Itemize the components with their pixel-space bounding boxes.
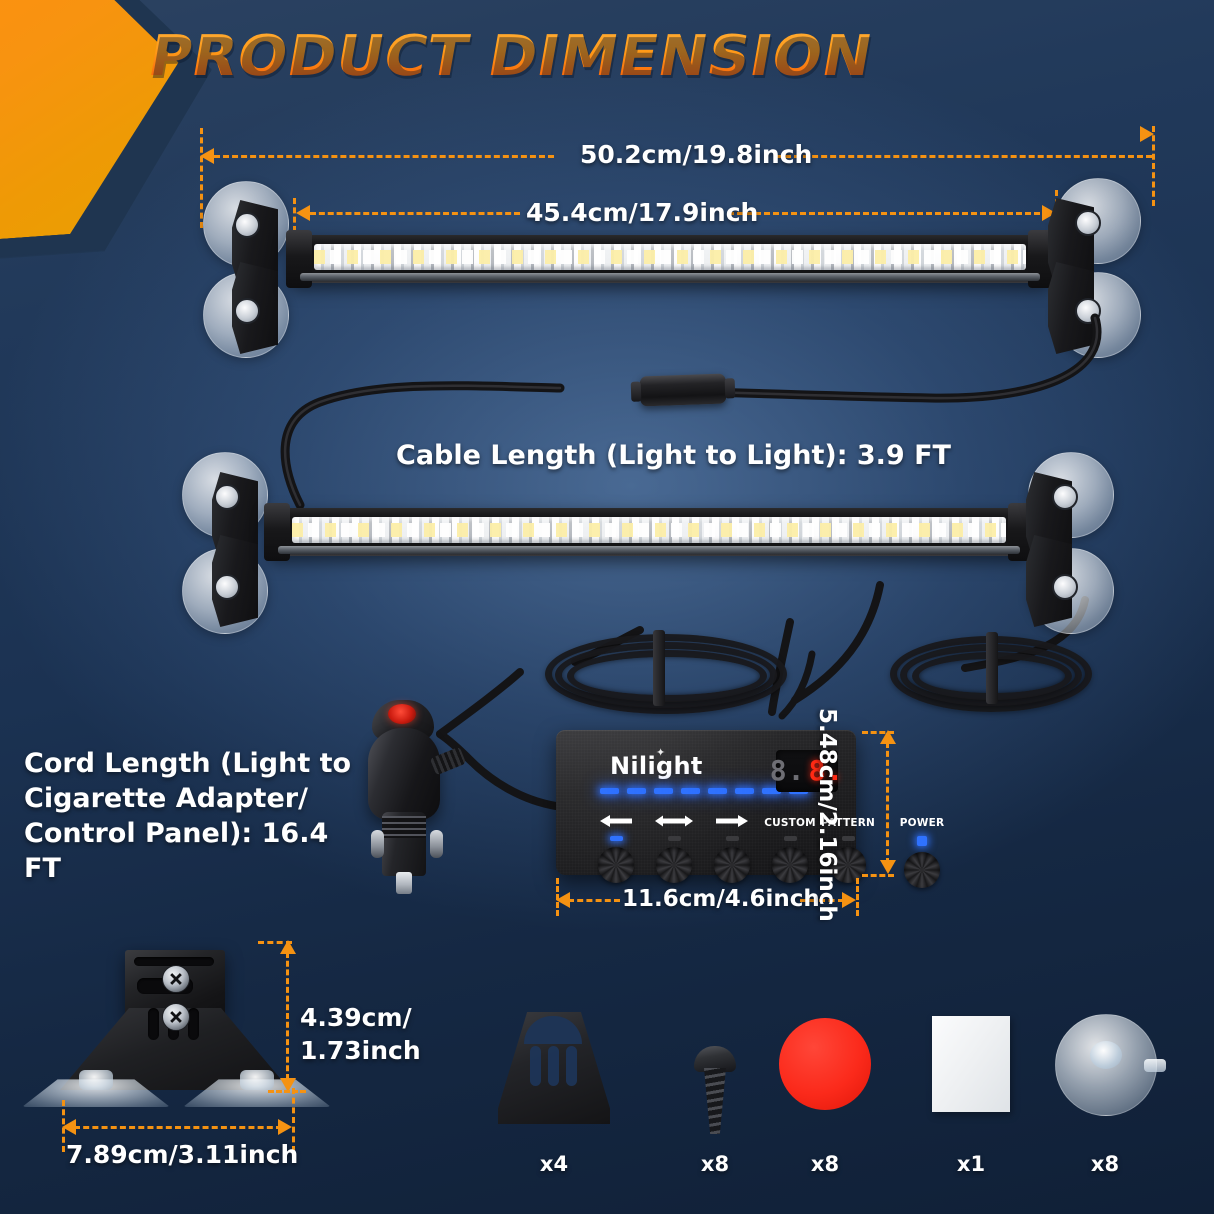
dim-panel-arrow-up: [880, 730, 896, 744]
led-segment: [735, 788, 754, 794]
adapter-center-pin: [396, 872, 412, 894]
button-row: CUSTOM PATTERN POWER: [588, 814, 950, 888]
accessory-screw-shaft: [704, 1068, 726, 1134]
dim-bracket-height-label: 4.39cm/ 1.73inch: [300, 1002, 421, 1067]
dim-panel-width-line-left: [568, 899, 620, 902]
dim-outer-arrow-right: [1140, 126, 1154, 142]
bracket-cutout-slot: [566, 1046, 577, 1086]
waterproof-cable-connector: [640, 374, 727, 407]
adapter-grip: [368, 728, 440, 820]
led-bar-heatsink: [278, 546, 1020, 554]
adapter-power-led-icon: [388, 704, 416, 724]
cable-tie: [986, 632, 998, 704]
product-dimension-infographic: PRODUCT DIMENSION 50.2cm/19.8inch 45.4cm…: [0, 0, 1214, 1214]
led-segment: [681, 788, 700, 794]
cable-length-label: Cable Length (Light to Light): 3.9 FT: [396, 440, 951, 471]
adapter-contact-clip-left: [371, 830, 384, 858]
dim-panel-right-tick: [856, 878, 859, 916]
button-knob[interactable]: [904, 852, 940, 888]
suction-cup-knob: [234, 298, 260, 324]
button-indicator-led: [726, 836, 739, 841]
cable-tie: [653, 630, 665, 706]
display-digit-1: 8.: [770, 757, 806, 785]
accessory-red-lens-cover: [779, 1018, 871, 1110]
dim-inner-arrow-left: [296, 205, 310, 221]
led-segment: [708, 788, 727, 794]
arrow-left-right-icon: [654, 814, 694, 832]
cord-length-line-1: Cord Length (Light to: [24, 746, 364, 781]
page-title: PRODUCT DIMENSION: [143, 24, 877, 89]
button-knob[interactable]: [598, 847, 634, 883]
cord-length-callout: Cord Length (Light to Cigarette Adapter/…: [24, 746, 364, 886]
dim-outer-left-tick: [200, 128, 203, 228]
dim-panel-width-label: 11.6cm/4.6inch: [622, 886, 820, 912]
bracket-screw: [162, 965, 190, 993]
suction-cup-knob: [214, 484, 240, 510]
panel-button-power[interactable]: POWER: [894, 814, 950, 888]
bracket-base-slot: [148, 1008, 159, 1040]
bracket-cutout-slot: [530, 1046, 541, 1086]
power-button-label: POWER: [900, 814, 944, 832]
bracket-suction-cup-knob: [79, 1070, 113, 1090]
dim-panel-arrow-right: [842, 892, 856, 908]
accessory-qty-suction-cup: x8: [1065, 1152, 1145, 1176]
led-bar-lens: [314, 244, 1026, 270]
dim-inner-line-left: [310, 212, 520, 215]
accessory-suction-cup: [1055, 1014, 1157, 1116]
led-bar-lens: [292, 517, 1006, 543]
power-indicator-led: [917, 836, 927, 846]
dim-bracket-width-line: [74, 1126, 282, 1129]
accessory-qty-white-lens: x1: [931, 1152, 1011, 1176]
suction-cup-knob: [1052, 484, 1078, 510]
panel-button-custom[interactable]: CUSTOM: [762, 814, 818, 888]
dim-outer-line-right: [776, 155, 1152, 158]
dim-outer-line-left: [214, 155, 554, 158]
dim-panel-height-line: [886, 742, 889, 864]
dim-inner-line-right: [728, 212, 1040, 215]
led-segment: [627, 788, 646, 794]
dim-bracket-arrow-right: [278, 1119, 292, 1135]
dim-bracket-width-label: 7.89cm/3.11inch: [66, 1140, 298, 1169]
suction-cup-knob: [1075, 210, 1101, 236]
dim-bracket-height-line-2: 1.73inch: [300, 1035, 421, 1068]
dim-overall-width-label: 50.2cm/19.8inch: [580, 140, 812, 169]
led-light-bar-top: [290, 235, 1050, 283]
panel-button-arrow-left[interactable]: [588, 814, 644, 888]
suction-cup-knob: [234, 212, 260, 238]
button-knob[interactable]: [772, 847, 808, 883]
arrow-left-icon: [599, 814, 633, 832]
bracket-suction-cup-knob: [240, 1070, 274, 1090]
arrow-right-icon: [715, 814, 749, 832]
dim-panel-arrow-left: [556, 892, 570, 908]
suction-cup-knob: [1075, 298, 1101, 324]
led-segment: [654, 788, 673, 794]
accessory-qty-bracket: x4: [514, 1152, 594, 1176]
button-indicator-led: [842, 836, 855, 841]
led-segment: [600, 788, 619, 794]
accessory-white-lens-cover: [932, 1016, 1010, 1112]
adapter-contact-clip-right: [430, 830, 443, 858]
cord-length-line-3: Control Panel): 16.4 FT: [24, 816, 364, 886]
bracket-screw: [162, 1003, 190, 1031]
cigarette-lighter-adapter: [358, 700, 478, 900]
dim-bracket-arrow-up: [280, 940, 296, 954]
cable-loop: [567, 650, 767, 702]
button-indicator-led: [784, 836, 797, 841]
dim-bracket-height-line-1: 4.39cm/: [300, 1002, 421, 1035]
accessory-qty-red-lens: x8: [785, 1152, 865, 1176]
bracket-cutout-slot: [548, 1046, 559, 1086]
led-light-bar-bottom: [268, 508, 1030, 556]
button-knob[interactable]: [714, 847, 750, 883]
button-indicator-led: [610, 836, 623, 841]
suction-cup-tab: [1144, 1059, 1166, 1072]
sparkle-icon: ✦: [656, 746, 665, 759]
cord-length-line-2: Cigarette Adapter/: [24, 781, 364, 816]
coiled-cable-bundle-right: [890, 632, 1080, 708]
dim-panel-arrow-down: [880, 860, 896, 874]
dim-outer-arrow-left: [200, 148, 214, 164]
panel-button-arrow-left-right[interactable]: [646, 814, 702, 888]
button-indicator-led: [668, 836, 681, 841]
dim-bracket-height-line: [286, 952, 289, 1080]
dim-bar-width-label: 45.4cm/17.9inch: [526, 198, 758, 227]
bracket-base-slot: [188, 1008, 199, 1040]
control-panel[interactable]: Nilight ✦: [556, 730, 856, 875]
panel-button-arrow-right[interactable]: [704, 814, 760, 888]
dim-panel-bottom-tick: [862, 874, 894, 877]
coiled-cable-bundle-left: [545, 628, 775, 708]
suction-cup-center: [1090, 1041, 1122, 1069]
custom-button-label: CUSTOM: [764, 814, 816, 832]
dim-panel-height-label: 5.48cm/2.16inch: [814, 708, 840, 922]
accessory-qty-screw: x8: [675, 1152, 755, 1176]
led-bar-heatsink: [300, 273, 1040, 281]
adapter-grip-rings: [382, 816, 426, 838]
suction-cup-knob: [214, 574, 240, 600]
dim-bracket-arrow-left: [62, 1119, 76, 1135]
suction-cup-knob: [1052, 574, 1078, 600]
button-knob[interactable]: [656, 847, 692, 883]
